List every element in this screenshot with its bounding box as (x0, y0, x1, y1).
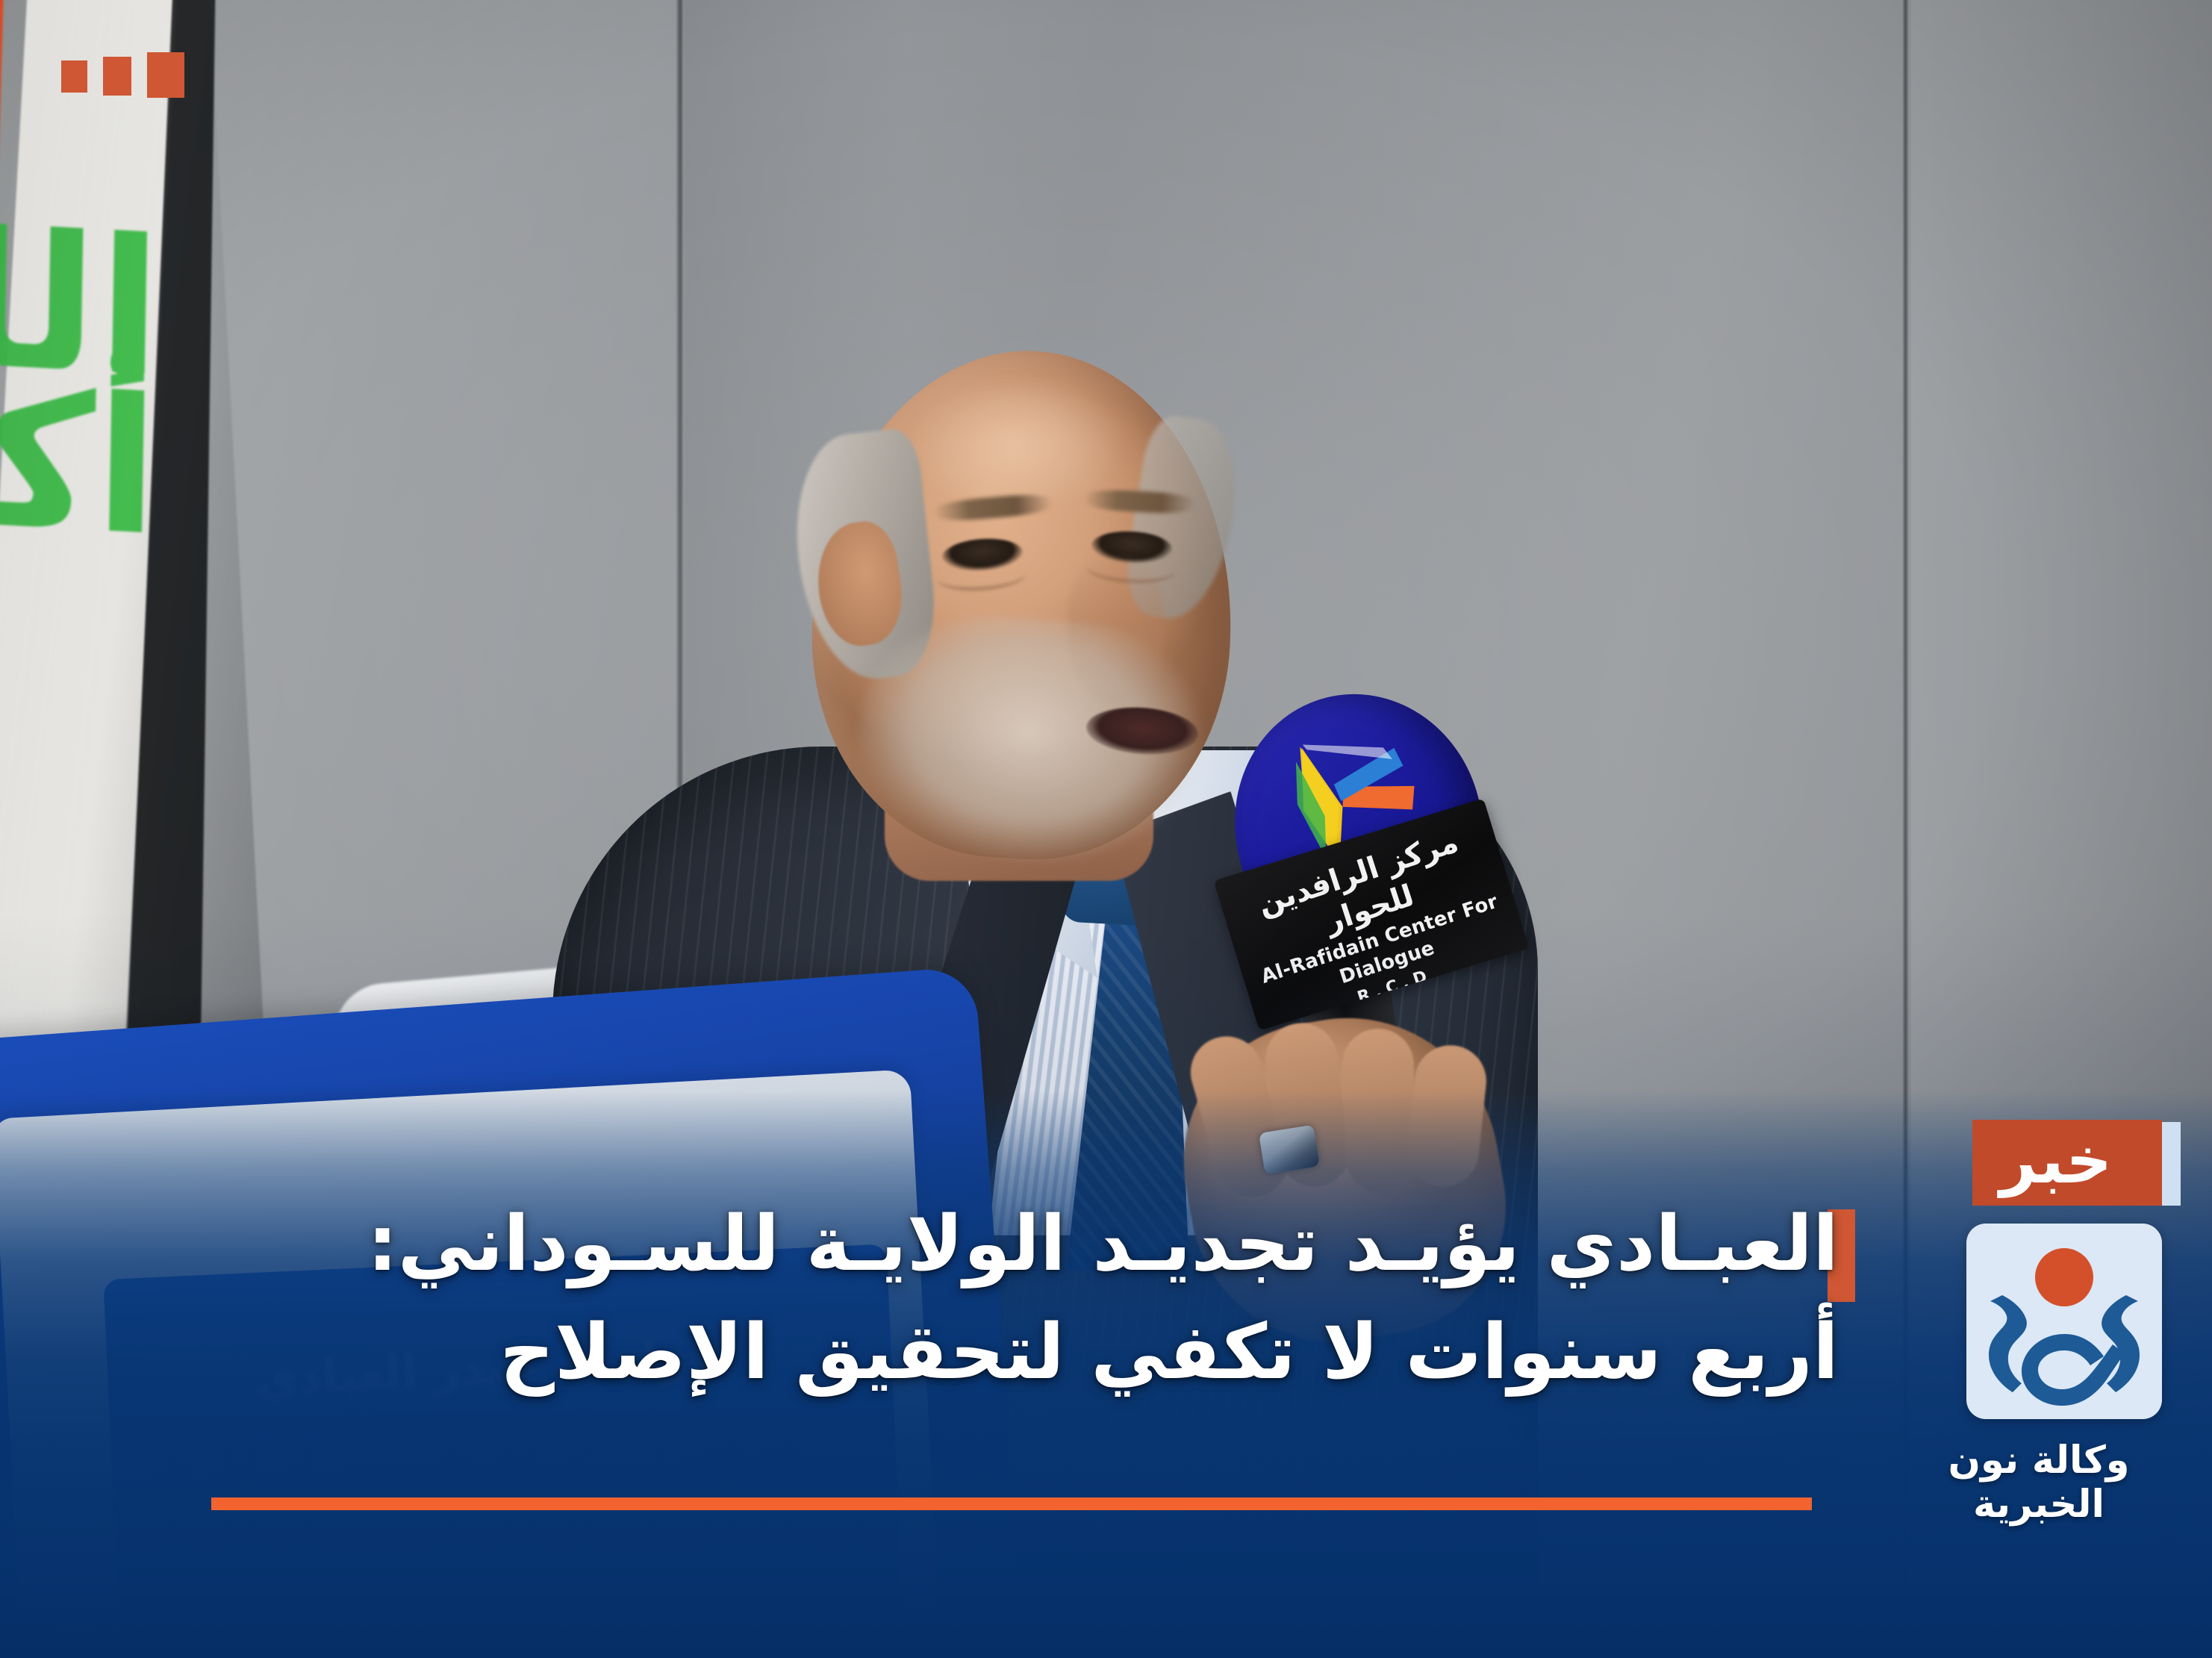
decor-bars (61, 52, 184, 98)
brand-gradient-overlay-deep (0, 1434, 2212, 1658)
headline: العبـادي يؤيـد تجديـد الولايـة للسـوداني… (181, 1191, 1839, 1407)
headline-line-1: العبـادي يؤيـد تجديـد الولايـة للسـوداني… (181, 1191, 1839, 1299)
brand-logo-block: خبر وكالة نون الخبرية (1916, 1120, 2162, 1527)
news-type-badge: خبر (1972, 1120, 2162, 1206)
decor-bar-2 (103, 57, 131, 96)
agency-name: وكالة نون الخبرية (1916, 1439, 2162, 1527)
agency-logo-tile (1966, 1224, 2162, 1419)
headline-separator-rule (211, 1498, 1812, 1510)
noon-logo-icon (1966, 1224, 2162, 1419)
news-type-badge-label: خبر (2000, 1129, 2113, 1193)
news-card: الله أكبر (0, 0, 2212, 1658)
headline-line-2: أربع سنوات لا تكفي لتحقيق الإصلاح (181, 1299, 1839, 1407)
decor-bar-1 (147, 52, 184, 98)
decor-bar-3 (61, 60, 87, 93)
